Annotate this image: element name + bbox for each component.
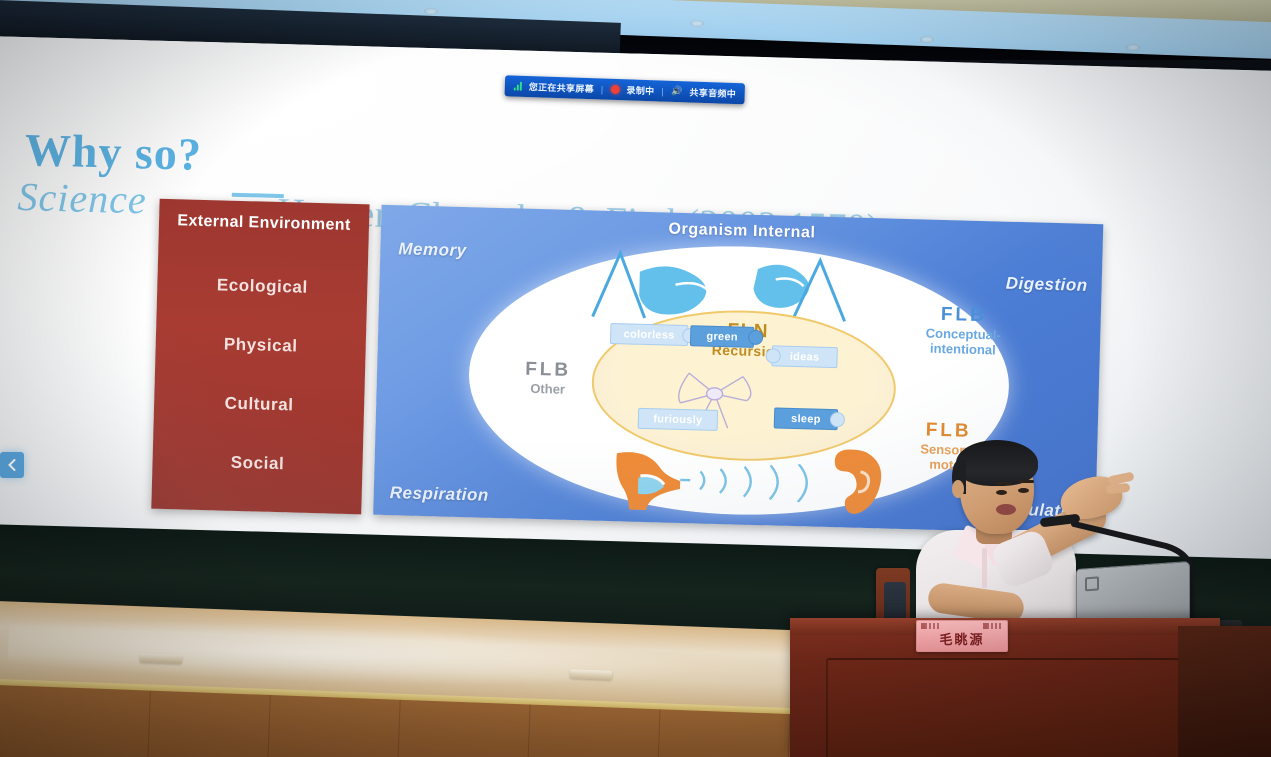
puzzle-chip-green: green — [690, 325, 755, 348]
list-item-ecological: Ecological — [217, 275, 309, 297]
toolbar-separator-2: | — [661, 86, 664, 96]
corner-label-respiration: Respiration — [390, 483, 490, 506]
sharing-status-label: 您正在共享屏幕 — [529, 80, 595, 95]
presenter-eye-left — [996, 490, 1007, 495]
sound-wave-icon — [674, 461, 825, 503]
record-dot-icon[interactable] — [610, 85, 619, 94]
slide-title-why: Why so? — [24, 123, 202, 181]
stage-vent-1 — [140, 653, 182, 664]
flb-other-acronym: FLB — [503, 358, 594, 382]
presenter-placket — [982, 548, 987, 588]
list-item-physical: Physical — [224, 334, 298, 356]
puzzle-chip-colorless: colorless — [610, 323, 689, 346]
ear-icon — [825, 449, 885, 517]
presenter-brow-right — [1018, 480, 1034, 483]
speaker-icon: 🔊 — [671, 86, 683, 97]
recording-status-label: 录制中 — [626, 83, 654, 97]
puzzle-chip-sleep: sleep — [774, 407, 839, 430]
ceiling-light-2 — [690, 20, 704, 27]
toolbar-separator-1: | — [601, 84, 604, 94]
list-item-social: Social — [230, 453, 284, 474]
name-card-text: 毛眺源 — [939, 629, 984, 651]
corner-label-memory: Memory — [398, 239, 467, 261]
desk-front-panel — [826, 658, 1186, 757]
audio-share-label: 共享音频中 — [689, 86, 736, 101]
list-item-cultural: Cultural — [224, 394, 294, 416]
puzzle-chip-ideas: ideas — [771, 345, 838, 368]
stage-vent-2 — [570, 669, 612, 680]
corner-label-digestion: Digestion — [1005, 274, 1087, 296]
presenter-ear — [952, 480, 964, 498]
presenter-brow-left — [996, 482, 1012, 485]
presenter-mouth — [996, 504, 1016, 515]
ceiling-light-4 — [1126, 44, 1140, 51]
desk-right-section — [1178, 626, 1271, 757]
ceiling-light-1 — [424, 8, 438, 15]
presenter-eye-right — [1018, 488, 1029, 493]
name-card-logo-right — [983, 623, 1003, 629]
flb-other-label: FLB Other — [502, 358, 593, 397]
chevron-left-icon — [7, 459, 17, 471]
name-card-logo-left — [921, 623, 941, 629]
signal-bars-icon — [514, 82, 522, 91]
flb-other-subtitle: Other — [502, 380, 592, 397]
slide-title-science: Science — [17, 173, 147, 223]
external-environment-list: Ecological Physical Cultural Social — [151, 230, 368, 515]
external-environment-panel: External Environment Ecological Physical… — [151, 199, 369, 515]
name-card: 毛眺源 — [916, 620, 1008, 652]
ceiling-light-3 — [920, 36, 934, 43]
back-nav-button[interactable] — [0, 452, 24, 478]
laptop-logo — [1085, 576, 1099, 591]
puzzle-chip-furiously: furiously — [638, 408, 719, 431]
lecture-hall-scene: 您正在共享屏幕 | 录制中 | 🔊 共享音频中 Why so? Science … — [0, 0, 1271, 757]
flb-conceptual-label: FLB Conceptual- intentional — [898, 303, 1029, 358]
presenter-finger-2 — [1106, 483, 1131, 494]
